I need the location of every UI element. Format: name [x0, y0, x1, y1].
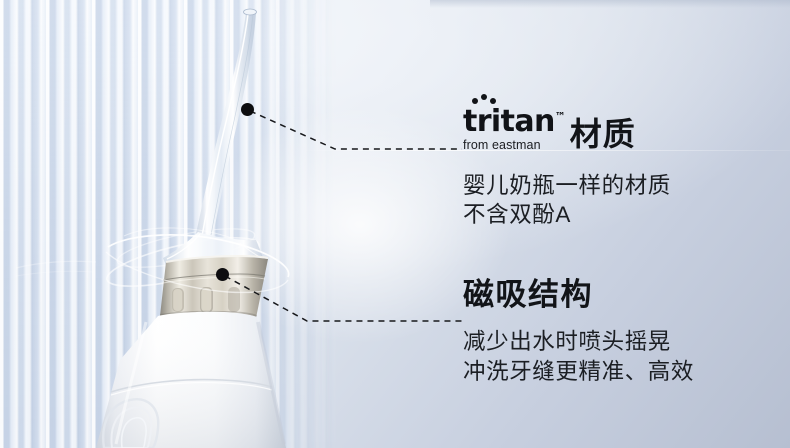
- feature-body-material: 婴儿奶瓶一样的材质 不含双酚A: [463, 171, 671, 231]
- callout-dot-magnetic-structure[interactable]: [216, 268, 229, 281]
- tritan-tagline: from eastman: [463, 139, 566, 152]
- product-image-oral-irrigator: [0, 0, 400, 448]
- panel-reflection: [16, 261, 96, 276]
- trademark-symbol: ™: [555, 110, 566, 123]
- feature-body-magnetic: 减少出水时喷头摇晃 冲洗牙缝更精准、高效: [463, 327, 694, 387]
- feature-body-line: 婴儿奶瓶一样的材质: [463, 171, 671, 201]
- tritan-heading-row: tritan™ from eastman 材质: [463, 94, 671, 152]
- feature-body-line: 不含双酚A: [463, 200, 671, 230]
- product-feature-banner: tritan™ from eastman 材质 婴儿奶瓶一样的材质 不含双酚A …: [0, 0, 790, 448]
- tritan-logo-dots: [470, 94, 510, 107]
- feature-body-line: 冲洗牙缝更精准、高效: [463, 357, 694, 387]
- nozzle-tube: [196, 12, 256, 240]
- tritan-wordmark: tritan™: [463, 107, 566, 137]
- feature-body-line: 减少出水时喷头摇晃: [463, 327, 694, 357]
- feature-block-tritan-material: tritan™ from eastman 材质 婴儿奶瓶一样的材质 不含双酚A: [463, 94, 671, 230]
- callout-dot-tritan-material[interactable]: [241, 103, 254, 116]
- feature-heading-magnetic: 磁吸结构: [463, 279, 694, 310]
- background-top-edge: [430, 0, 790, 8]
- tritan-logo-lockup: tritan™ from eastman: [463, 94, 566, 152]
- feature-block-magnetic-structure: 磁吸结构 减少出水时喷头摇晃 冲洗牙缝更精准、高效: [463, 279, 694, 387]
- tritan-wordmark-text: tritan: [463, 104, 555, 139]
- feature-heading-material: 材质: [570, 118, 636, 152]
